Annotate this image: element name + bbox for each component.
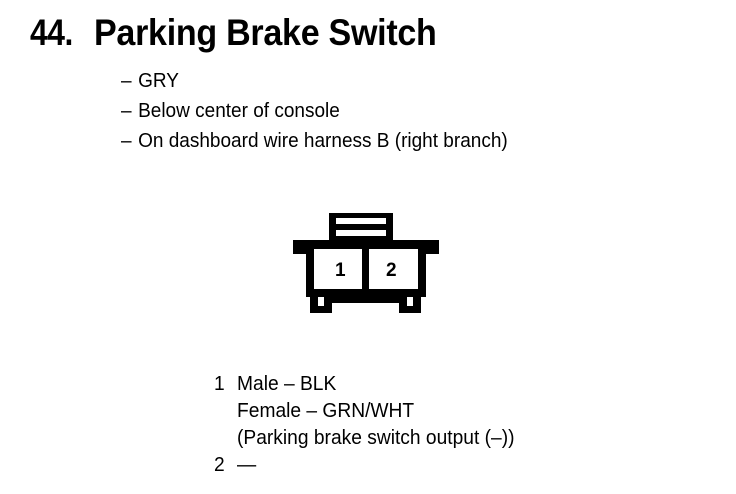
list-item-label: Below center of console	[138, 96, 340, 126]
dash-icon: –	[121, 126, 138, 156]
list-item: – On dashboard wire harness B (right bra…	[121, 126, 508, 156]
connector-pin-1-label: 1	[335, 261, 346, 280]
connector-key-slot-upper	[329, 224, 393, 230]
connector-key-block-top	[329, 213, 393, 218]
pin-legend-row: (Parking brake switch output (–))	[214, 425, 514, 452]
connector-diagram: 1 2	[291, 211, 441, 315]
pin-legend-row: 1 Male – BLK	[214, 371, 514, 398]
list-item-label: On dashboard wire harness B (right branc…	[138, 126, 508, 156]
document-page: 44. Parking Brake Switch – GRY – Below c…	[0, 0, 736, 494]
pin-number: 1	[214, 371, 237, 398]
section-title: Parking Brake Switch	[94, 14, 437, 51]
pin-legend-row: 2 —	[214, 452, 514, 479]
connector-pin-2-label: 2	[386, 261, 397, 280]
pin-description: Female – GRN/WHT	[237, 398, 414, 425]
pin-legend: 1 Male – BLK Female – GRN/WHT (Parking b…	[214, 371, 527, 479]
dash-icon: –	[121, 96, 138, 126]
list-item: – GRY	[121, 66, 508, 96]
pin-number: 2	[214, 452, 237, 479]
section-number: 44.	[30, 14, 73, 51]
list-item-label: GRY	[138, 66, 179, 96]
pin-description: Male – BLK	[237, 371, 336, 398]
page-title: 44. Parking Brake Switch	[30, 14, 466, 51]
pin-description: —	[237, 452, 256, 479]
dash-icon: –	[121, 66, 138, 96]
pin-legend-row: Female – GRN/WHT	[214, 398, 514, 425]
list-item: – Below center of console	[121, 96, 508, 126]
connector-left-tab-base	[310, 306, 332, 313]
connector-pin-divider	[362, 248, 369, 297]
connector-right-tab-base	[399, 306, 421, 313]
pin-description: (Parking brake switch output (–))	[237, 425, 514, 452]
attribute-list: – GRY – Below center of console – On das…	[121, 66, 528, 156]
connector-bottom-shelf	[324, 295, 407, 303]
